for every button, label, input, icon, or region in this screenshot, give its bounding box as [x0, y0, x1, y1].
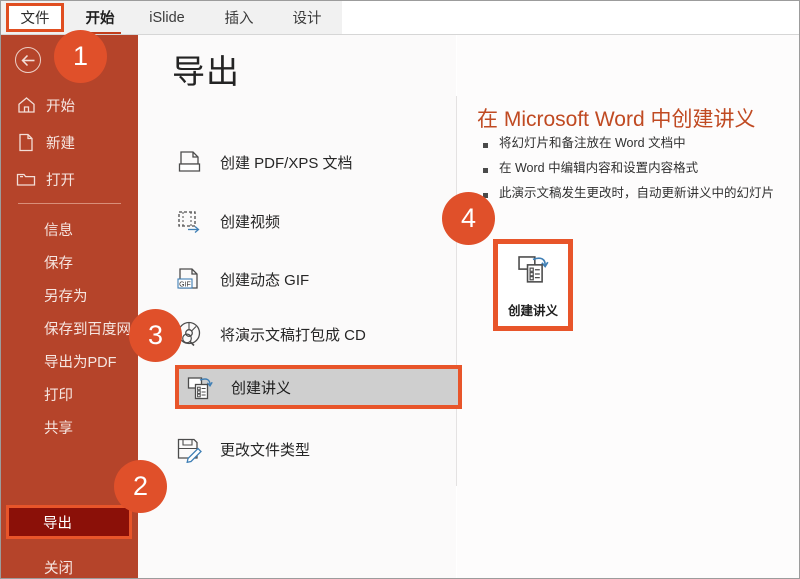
- export-option-change-file-type[interactable]: 更改文件类型: [138, 427, 456, 471]
- step-badge-1-label: 1: [73, 41, 88, 72]
- step-badge-3: 3: [129, 309, 182, 362]
- step-badge-4-label: 4: [461, 203, 476, 234]
- sidebar-item-home-label: 开始: [46, 95, 75, 116]
- new-document-icon: [15, 131, 37, 153]
- bullet-text: 在 Word 中编辑内容和设置内容格式: [499, 162, 698, 176]
- open-folder-icon: [15, 168, 37, 190]
- sidebar-item-info[interactable]: 信息: [1, 213, 138, 246]
- list-item: 在 Word 中编辑内容和设置内容格式: [483, 162, 800, 176]
- sidebar-item-export-label: 导出: [43, 512, 72, 533]
- page-title: 导出: [172, 45, 240, 93]
- sidebar-item-save-label: 保存: [44, 252, 73, 273]
- gif-file-icon: GIF: [174, 264, 204, 294]
- export-option-create-gif-label: 创建动态 GIF: [220, 269, 309, 290]
- export-option-create-handout-label: 创建讲义: [231, 377, 291, 398]
- tab-file-label: 文件: [21, 7, 50, 28]
- export-option-create-video[interactable]: 创建视频: [138, 199, 456, 243]
- tab-insert[interactable]: 插入: [215, 1, 263, 34]
- sidebar-item-open[interactable]: 打开: [1, 162, 138, 196]
- sidebar-item-print-label: 打印: [44, 384, 73, 405]
- step-badge-4: 4: [442, 192, 495, 245]
- bullet-text: 此演示文稿发生更改时，自动更新讲义中的幻灯片: [499, 187, 774, 201]
- tab-design-label: 设计: [293, 7, 322, 28]
- tab-islide[interactable]: iSlide: [139, 1, 195, 34]
- handout-detail-panel: 在 Microsoft Word 中创建讲义 将幻灯片和备注放在 Word 文档…: [457, 35, 800, 579]
- powerpoint-backstage-window: 文件 开始 iSlide 插入 设计: [0, 0, 800, 579]
- export-option-create-gif[interactable]: GIF 创建动态 GIF: [138, 257, 456, 301]
- sidebar-divider: [18, 203, 121, 204]
- detail-bullet-list: 将幻灯片和备注放在 Word 文档中 在 Word 中编辑内容和设置内容格式 此…: [483, 137, 800, 211]
- sidebar-item-share-label: 共享: [44, 417, 73, 438]
- create-handout-button-label: 创建讲义: [508, 300, 558, 319]
- ribbon-tab-bar: 文件 开始 iSlide 插入 设计: [1, 1, 800, 35]
- svg-text:GIF: GIF: [179, 281, 191, 288]
- sidebar-item-home[interactable]: 开始: [1, 88, 138, 122]
- handout-icon: [185, 372, 215, 402]
- tab-file[interactable]: 文件: [6, 3, 64, 32]
- step-badge-3-label: 3: [148, 320, 163, 351]
- export-options-panel: 导出 创建 PDF/XPS 文档 创建视频: [138, 35, 456, 579]
- sidebar-item-export-pdf[interactable]: 导出为PDF: [1, 345, 138, 378]
- sidebar-item-close-label: 关闭: [44, 557, 73, 578]
- tab-home-label: 开始: [86, 7, 115, 28]
- export-option-create-handout[interactable]: 创建讲义: [175, 365, 462, 409]
- export-option-change-file-type-label: 更改文件类型: [220, 439, 310, 460]
- tab-islide-label: iSlide: [149, 10, 184, 26]
- home-icon: [15, 94, 37, 116]
- export-option-create-pdf[interactable]: 创建 PDF/XPS 文档: [138, 140, 456, 184]
- film-strip-icon: [174, 206, 204, 236]
- export-option-package-cd-label: 将演示文稿打包成 CD: [220, 324, 366, 345]
- pdf-document-icon: [174, 147, 204, 177]
- step-badge-2-label: 2: [133, 471, 148, 502]
- sidebar-item-open-label: 打开: [46, 169, 75, 190]
- sidebar-item-new[interactable]: 新建: [1, 125, 138, 159]
- bullet-text: 将幻灯片和备注放在 Word 文档中: [499, 137, 686, 151]
- sidebar-item-save-to-baidu[interactable]: 保存到百度网盘: [1, 312, 138, 345]
- detail-heading: 在 Microsoft Word 中创建讲义: [477, 103, 755, 133]
- sidebar-item-info-label: 信息: [44, 219, 73, 240]
- export-option-package-cd[interactable]: 将演示文稿打包成 CD: [138, 312, 456, 356]
- export-option-create-video-label: 创建视频: [220, 211, 280, 232]
- sidebar-item-new-label: 新建: [46, 132, 75, 153]
- sidebar-item-save-as[interactable]: 另存为: [1, 279, 138, 312]
- bullet-square-icon: [483, 143, 488, 148]
- list-item: 此演示文稿发生更改时，自动更新讲义中的幻灯片: [483, 187, 800, 201]
- sidebar-item-share[interactable]: 共享: [1, 411, 138, 444]
- floppy-pencil-icon: [174, 434, 204, 464]
- sidebar-item-print[interactable]: 打印: [1, 378, 138, 411]
- back-arrow-icon[interactable]: [15, 47, 41, 73]
- sidebar-item-save-as-label: 另存为: [44, 285, 88, 306]
- bullet-square-icon: [483, 168, 488, 173]
- list-item: 将幻灯片和备注放在 Word 文档中: [483, 137, 800, 151]
- tab-insert-label: 插入: [225, 7, 254, 28]
- handout-icon: [516, 252, 550, 290]
- sidebar-item-close[interactable]: 关闭: [1, 551, 138, 579]
- create-handout-button[interactable]: 创建讲义: [493, 239, 573, 331]
- sidebar-item-save[interactable]: 保存: [1, 246, 138, 279]
- step-badge-2: 2: [114, 460, 167, 513]
- tab-design[interactable]: 设计: [283, 1, 331, 34]
- export-option-create-pdf-label: 创建 PDF/XPS 文档: [220, 152, 353, 173]
- step-badge-1: 1: [54, 30, 107, 83]
- sidebar-item-export[interactable]: 导出: [6, 505, 132, 539]
- sidebar-item-export-pdf-label: 导出为PDF: [44, 351, 117, 372]
